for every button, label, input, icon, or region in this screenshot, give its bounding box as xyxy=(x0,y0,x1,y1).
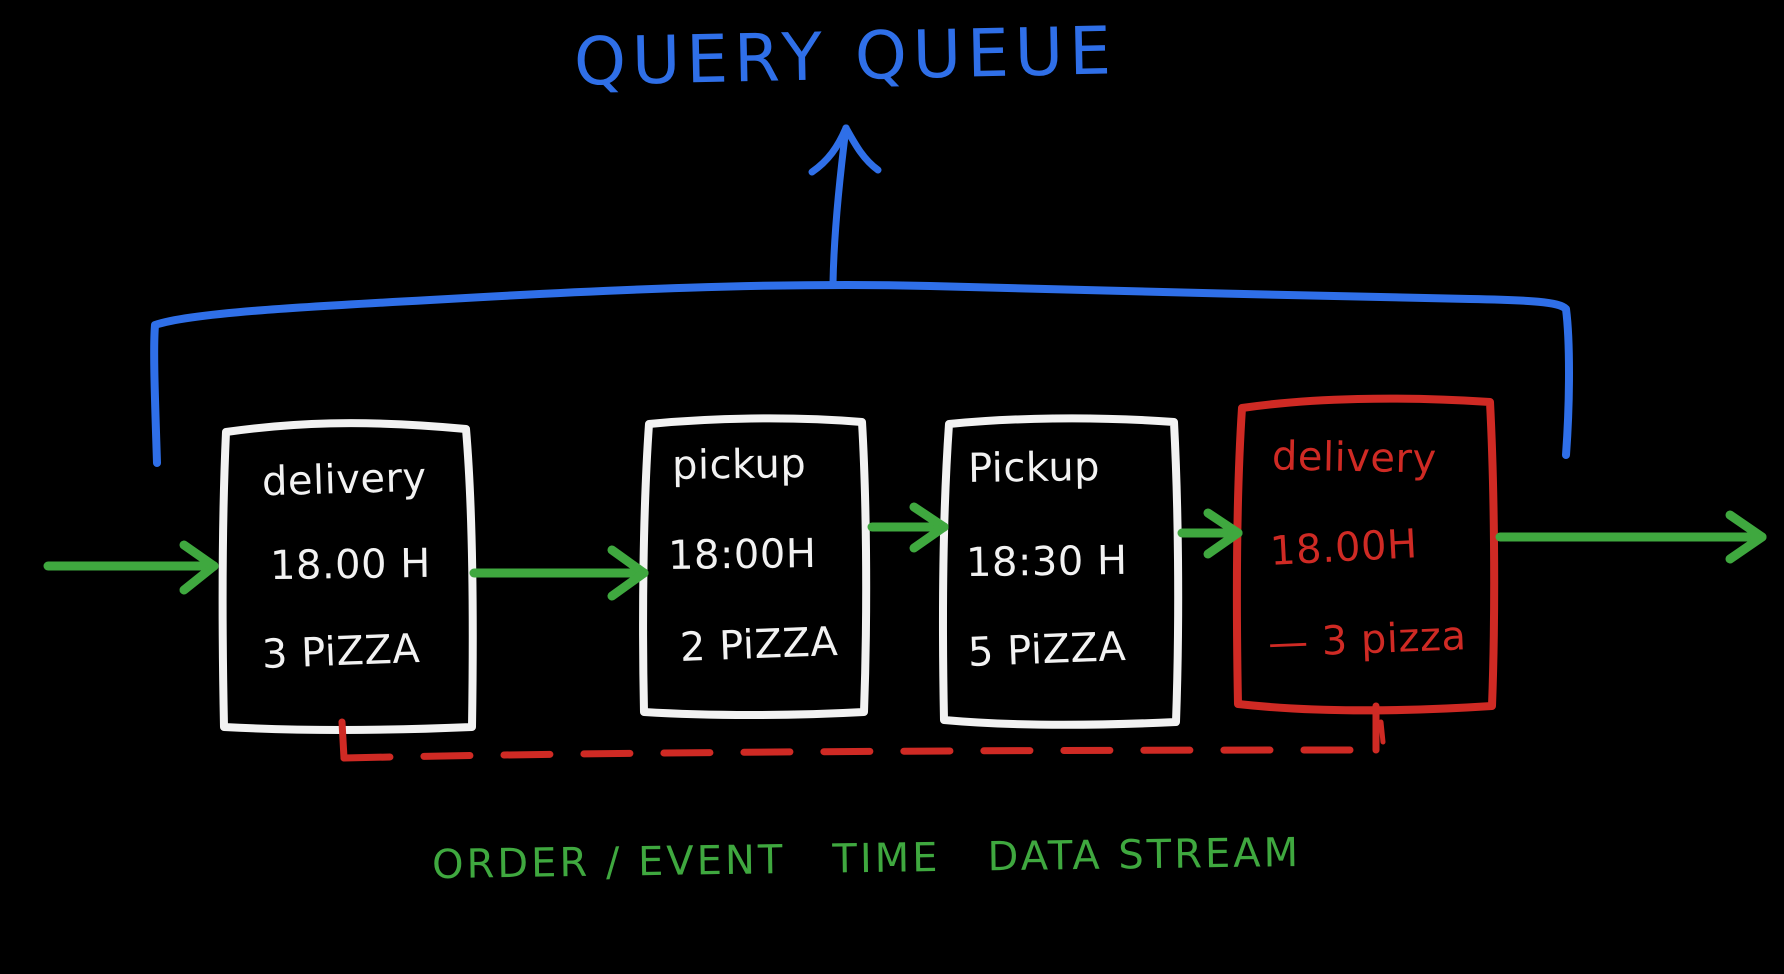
event-card-3-time: 18:30 H xyxy=(966,541,1128,583)
stream-arrow-outbound xyxy=(1500,515,1762,559)
whiteboard-canvas: Query Queue delivery 18.00 H 3 PiZZA pic… xyxy=(0,0,1784,974)
stream-arrow-2-3 xyxy=(872,507,944,548)
stream-arrow-3-4 xyxy=(1182,513,1238,554)
event-card-4-kind: delivery xyxy=(1272,436,1437,479)
event-card-1-kind: delivery xyxy=(261,458,427,503)
query-queue-arrow xyxy=(812,128,878,283)
event-card-1-quantity: 3 PiZZA xyxy=(261,629,421,675)
event-card-4-quantity: — 3 pizza xyxy=(1267,616,1467,664)
event-card-4-time: 18.00H xyxy=(1269,524,1418,572)
stream-arrow-inbound xyxy=(48,545,214,590)
event-card-2-kind: pickup xyxy=(672,444,807,486)
event-card-3-quantity: 5 PiZZA xyxy=(967,627,1127,673)
event-card-1-time: 18.00 H xyxy=(270,544,431,586)
page-title: Query Queue xyxy=(573,12,1117,100)
event-card-2-time: 18:00H xyxy=(668,534,817,576)
event-card-2-quantity: 2 PiZZA xyxy=(679,622,839,668)
event-card-3-kind: Pickup xyxy=(968,447,1101,489)
stream-arrow-1-2 xyxy=(474,550,644,596)
